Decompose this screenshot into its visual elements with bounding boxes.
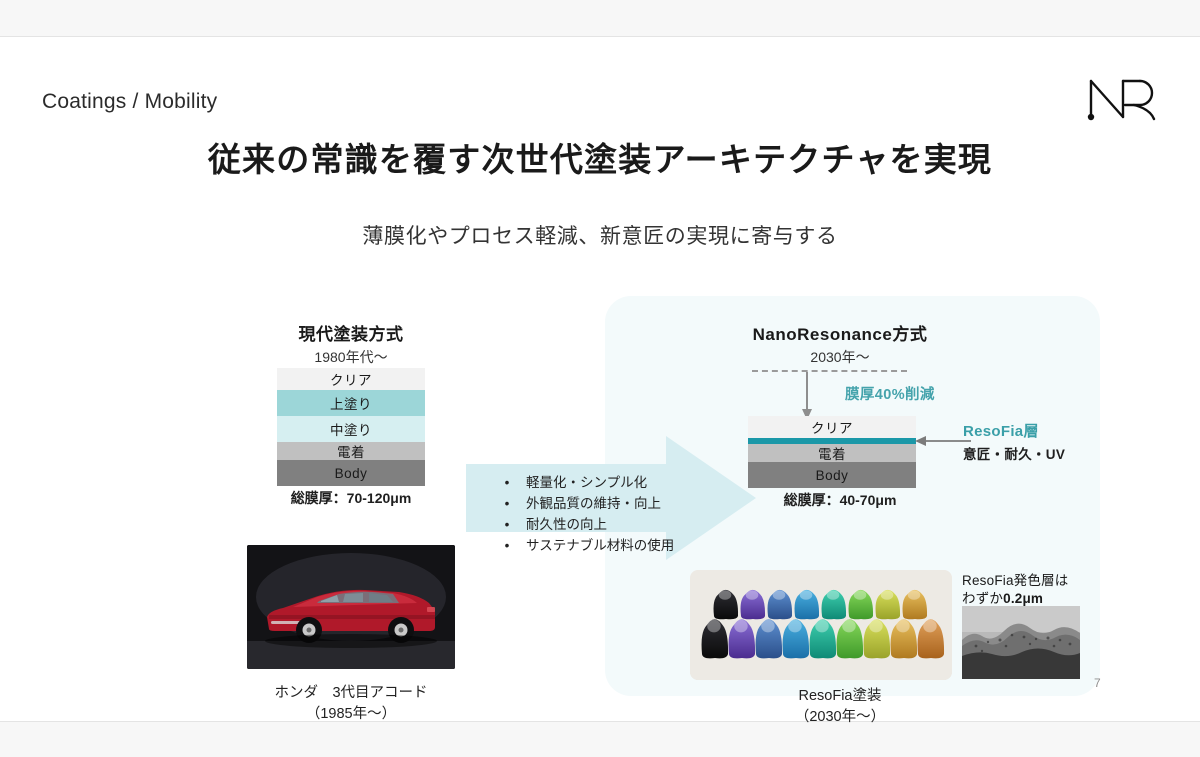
left-photo-caption: ホンダ 3代目アコード （1985年〜） xyxy=(245,683,457,725)
benefits-list: •軽量化・シンプル化•外観品質の維持・向上•耐久性の向上•サステナブル材料の使用 xyxy=(488,472,703,556)
window-bottom-band xyxy=(0,721,1200,757)
resofia-layer-attributes: 意匠・耐久・UV xyxy=(963,443,1065,463)
benefit-item-label: 軽量化・シンプル化 xyxy=(526,472,647,493)
right-column-title: NanoResonance方式 xyxy=(725,320,955,345)
conventional-layer-label: 上塗り xyxy=(330,393,372,413)
conventional-layer-5: Body xyxy=(277,460,425,486)
thickness-down-arrow-icon xyxy=(800,372,814,420)
right-photo-caption-line1: ResoFia塗装 xyxy=(725,686,955,707)
conventional-layer-2: 上塗り xyxy=(277,390,425,416)
benefit-item-label: 外観品質の維持・向上 xyxy=(526,493,661,514)
resofia-paint-samples-photo xyxy=(690,570,952,680)
thickness-reference-dashline xyxy=(752,370,907,372)
page-subtitle: 薄膜化やプロセス軽減、新意匠の実現に寄与する xyxy=(0,220,1200,250)
benefit-item: •外観品質の維持・向上 xyxy=(488,493,703,514)
left-column-heading: 現代塗装方式 1980年代〜 xyxy=(245,320,457,367)
left-thickness-label: 総膜厚：70-120μm xyxy=(245,488,457,508)
bullet-marker-icon: • xyxy=(488,472,526,493)
sem-note-line2-plain: わずか xyxy=(962,591,1003,606)
left-column-subtitle: 1980年代〜 xyxy=(245,347,457,367)
slide-eyebrow: Coatings / Mobility xyxy=(42,90,217,114)
left-photo-caption-line1: ホンダ 3代目アコード xyxy=(245,683,457,704)
resofia-layer-title: ResoFia層 xyxy=(963,420,1065,441)
sem-cross-section-photo xyxy=(962,606,1080,679)
benefit-item: •軽量化・シンプル化 xyxy=(488,472,703,493)
bullet-marker-icon: • xyxy=(488,493,526,514)
conventional-layer-1: クリア xyxy=(277,368,425,390)
right-thickness-label: 総膜厚：40-70μm xyxy=(725,490,955,510)
left-column-title: 現代塗装方式 xyxy=(245,320,457,345)
window-top-band xyxy=(0,0,1200,37)
benefit-item-label: サステナブル材料の使用 xyxy=(526,535,674,556)
nr-logo-icon xyxy=(1078,70,1164,130)
page-number: 7 xyxy=(1094,676,1101,690)
benefit-item: •サステナブル材料の使用 xyxy=(488,535,703,556)
conventional-layer-stack: クリア上塗り中塗り電着Body xyxy=(277,368,425,486)
benefit-item: •耐久性の向上 xyxy=(488,514,703,535)
slide-canvas: Coatings / Mobility 従来の常識を覆す次世代塗装アーキテクチャ… xyxy=(0,38,1200,721)
thickness-reduction-label: 膜厚40%削減 xyxy=(845,383,935,404)
right-photo-caption: ResoFia塗装 （2030年〜） xyxy=(725,686,955,728)
nanoresonance-layer-3: 電着 xyxy=(748,444,916,462)
bullet-marker-icon: • xyxy=(488,535,526,556)
conventional-layer-label: 中塗り xyxy=(330,419,372,439)
left-photo-caption-line2: （1985年〜） xyxy=(245,704,457,725)
nanoresonance-layer-label: クリア xyxy=(811,417,853,437)
nanoresonance-layer-1: クリア xyxy=(748,416,916,438)
bullet-marker-icon: • xyxy=(488,514,526,535)
sem-note-line2-bold: 0.2μm xyxy=(1003,591,1043,606)
benefit-item-label: 耐久性の向上 xyxy=(526,514,607,535)
right-column-subtitle: 2030年〜 xyxy=(725,347,955,367)
conventional-layer-4: 電着 xyxy=(277,442,425,460)
nanoresonance-layer-stack: クリア電着Body xyxy=(748,416,916,488)
conventional-layer-label: Body xyxy=(335,466,368,481)
right-photo-caption-line2: （2030年〜） xyxy=(725,707,955,728)
honda-accord-photo xyxy=(247,545,455,669)
nanoresonance-layer-label: 電着 xyxy=(818,443,846,463)
conventional-layer-label: クリア xyxy=(330,369,372,389)
slide-viewport: Coatings / Mobility 従来の常識を覆す次世代塗装アーキテクチャ… xyxy=(0,0,1200,757)
page-title: 従来の常識を覆す次世代塗装アーキテクチャを実現 xyxy=(0,133,1200,181)
conventional-layer-label: 電着 xyxy=(337,441,365,461)
nanoresonance-layer-4: Body xyxy=(748,462,916,488)
sem-note-line1: ResoFia発色層は xyxy=(962,572,1092,590)
sem-thickness-note: ResoFia発色層は わずか0.2μm xyxy=(962,572,1092,608)
conventional-layer-3: 中塗り xyxy=(277,416,425,442)
nanoresonance-layer-label: Body xyxy=(816,468,849,483)
resofia-layer-callout: ResoFia層 意匠・耐久・UV xyxy=(963,420,1065,463)
right-column-heading: NanoResonance方式 2030年〜 xyxy=(725,320,955,367)
